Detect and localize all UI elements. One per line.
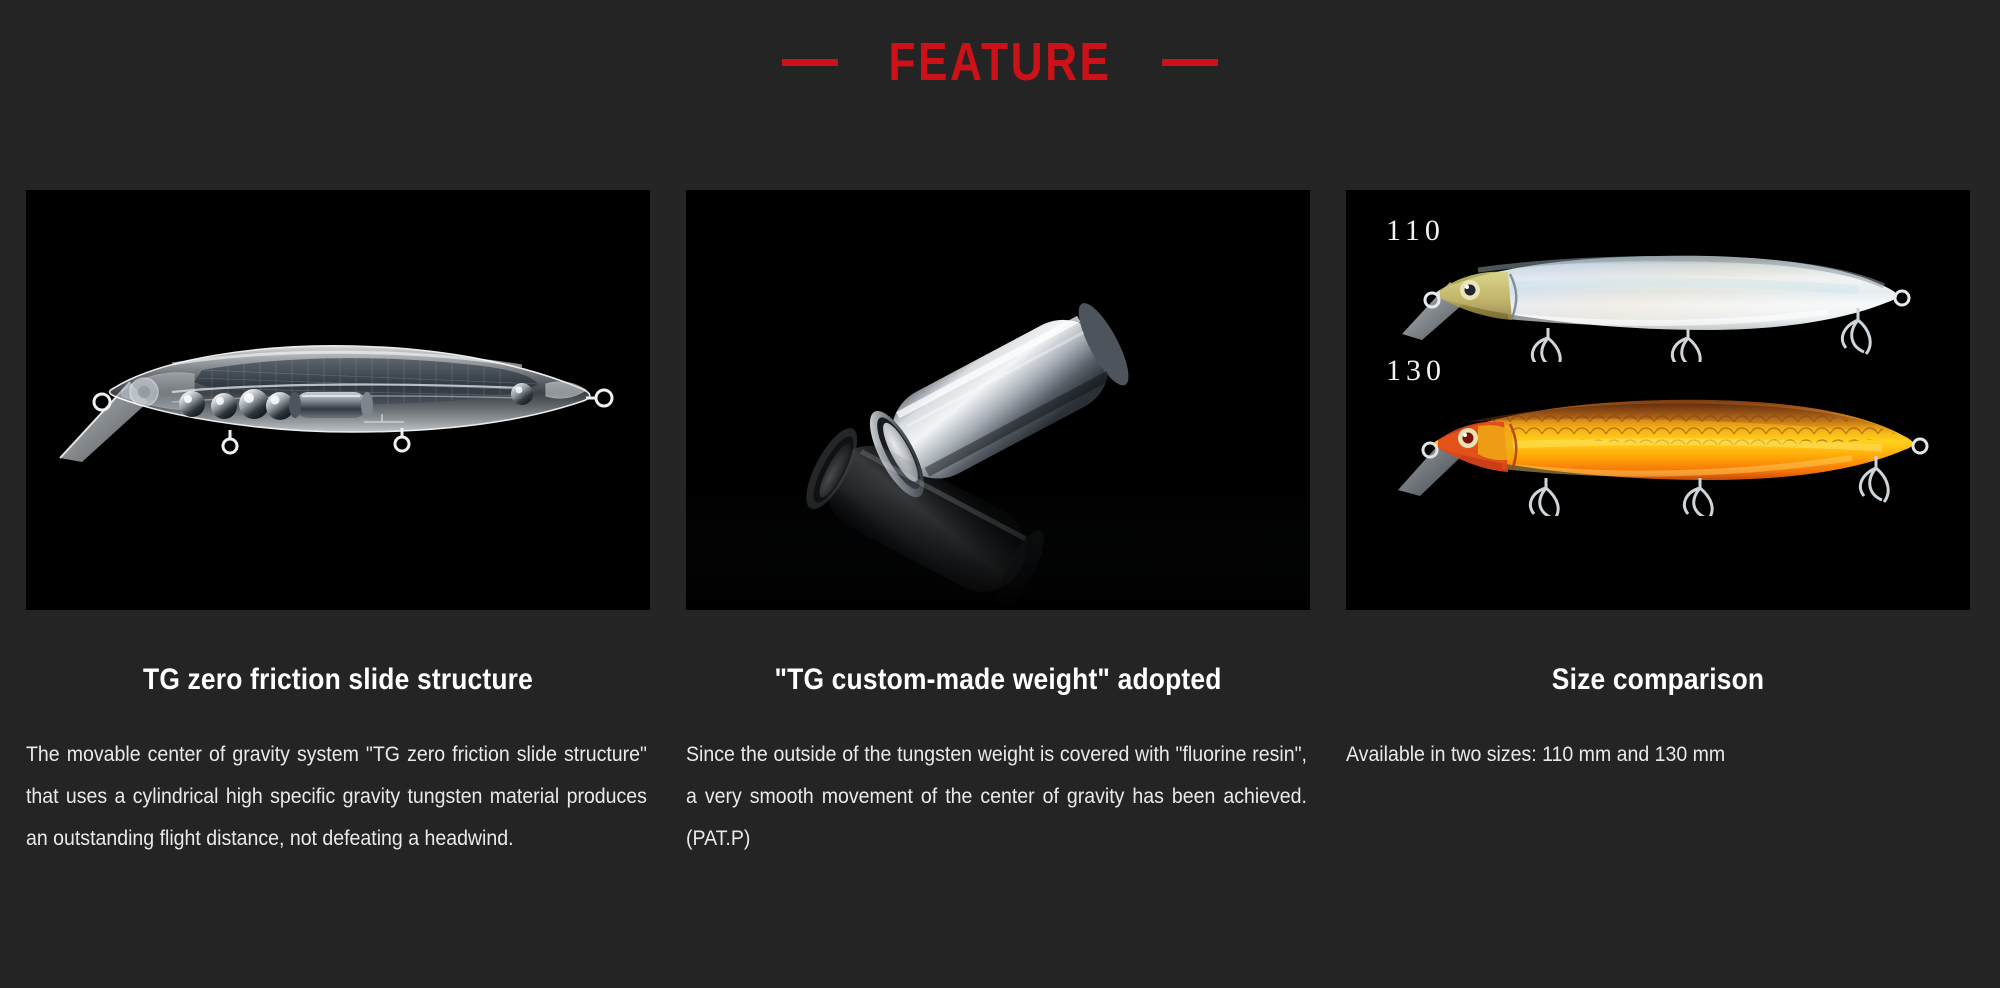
image-panel-size-comparison: 110 130 (1346, 190, 1970, 610)
section-title: FEATURE (0, 30, 2000, 94)
lure-130-illustration (1382, 386, 1952, 516)
feature-column-size-comparison: 110 130 (1346, 190, 1970, 860)
feature-heading-3: Size comparison (1383, 662, 1932, 698)
transparent-lure-xray-photo (52, 336, 622, 466)
transparent-lure-illustration (52, 336, 622, 466)
lure-130-photo (1382, 386, 1952, 516)
title-dash-left-icon (782, 59, 838, 66)
image-panel-tungsten-weight (686, 190, 1310, 610)
feature-column-tg-custom-weight: "TG custom-made weight" adopted Since th… (686, 190, 1310, 860)
lure-110-photo (1388, 242, 1948, 362)
feature-body-1: The movable center of gravity system "TG… (26, 734, 647, 860)
feature-heading-2: "TG custom-made weight" adopted (723, 662, 1272, 698)
feature-heading-1: TG zero friction slide structure (63, 662, 612, 698)
tungsten-weight-cylinder-photo (686, 190, 1310, 610)
feature-section-page: FEATURE (0, 0, 2000, 988)
title-dash-right-icon (1162, 59, 1218, 66)
lure-110-illustration (1388, 242, 1948, 362)
tungsten-cylinder-illustration (686, 190, 1310, 610)
page-title: FEATURE (888, 35, 1111, 89)
feature-columns: TG zero friction slide structure The mov… (26, 190, 1974, 860)
feature-column-tg-zero-friction: TG zero friction slide structure The mov… (26, 190, 650, 860)
image-panel-transparent-lure (26, 190, 650, 610)
feature-body-3: Available in two sizes: 110 mm and 130 m… (1346, 734, 1967, 776)
feature-body-2: Since the outside of the tungsten weight… (686, 734, 1307, 860)
